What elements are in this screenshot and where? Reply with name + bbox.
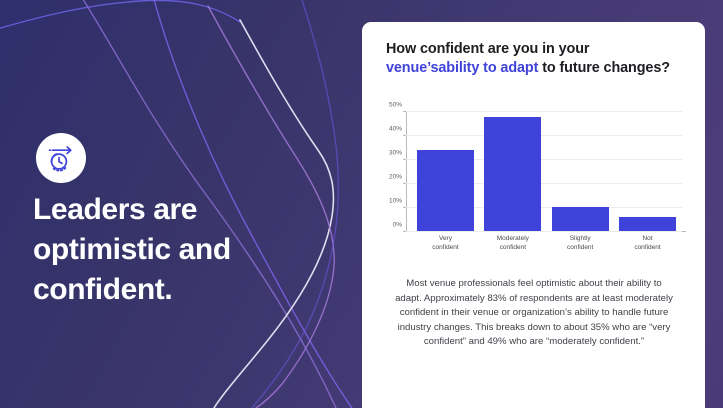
y-axis-tick-label: 20% (389, 174, 402, 181)
left-panel: Leaders are optimistic and confident. (0, 0, 362, 408)
chart-bar[interactable] (417, 150, 474, 231)
card-caption: Most venue professionals feel optimistic… (394, 277, 674, 350)
page-title: Leaders are optimistic and confident. (33, 190, 333, 310)
x-axis-category-label: Slightlyconfident (552, 235, 609, 252)
card-title-part-1: How confident are you in your (386, 41, 589, 57)
x-axis-category-label: Veryconfident (417, 235, 474, 252)
slide-canvas: Leaders are optimistic and confident. Ho… (0, 0, 723, 408)
chart-bar[interactable] (619, 217, 676, 231)
x-axis-label-line: confident (417, 244, 474, 253)
card-title-accent-2: ability to adapt (438, 60, 538, 76)
x-axis-labels: VeryconfidentModeratelyconfidentSlightly… (407, 235, 682, 252)
chart-bar[interactable] (484, 117, 541, 231)
chart-bar[interactable] (552, 207, 609, 231)
chart-bars (407, 112, 682, 231)
x-axis-label-line: Moderately (484, 235, 541, 244)
headline-line-3: confident. (33, 270, 333, 310)
card-title-accent-1: venue’s (386, 60, 438, 76)
bar-slot (552, 112, 609, 231)
bar-slot (417, 112, 474, 231)
stat-card: How confident are you in your venue’sabi… (362, 22, 705, 408)
x-axis-label-line: confident (484, 244, 541, 253)
y-axis-tick-label: 40% (389, 126, 402, 133)
x-axis-label-line: confident (619, 244, 676, 253)
y-axis-tickmark (403, 159, 406, 160)
y-axis-tickmark (403, 135, 406, 136)
y-axis-tickmark (403, 111, 406, 112)
x-axis-label-line: confident (552, 244, 609, 253)
y-axis-tickmark (403, 183, 406, 184)
card-title: How confident are you in your venue’sabi… (386, 40, 686, 78)
brand-badge (36, 133, 86, 183)
bar-slot (484, 112, 541, 231)
x-axis-category-label: Moderatelyconfident (484, 235, 541, 252)
clock-arrow-icon (44, 141, 78, 175)
y-axis-tickmark (403, 207, 406, 208)
chart-plot-area: 0%10%20%30%40%50% (406, 112, 682, 232)
gridline (406, 231, 682, 232)
y-axis-tickmark (403, 231, 406, 232)
y-axis-tick-label: 30% (389, 150, 402, 157)
headline-line-2: optimistic and (33, 230, 333, 270)
x-axis-category-label: Notconfident (619, 235, 676, 252)
x-axis-label-line: Not (619, 235, 676, 244)
x-axis-label-line: Slightly (552, 235, 609, 244)
x-axis-label-line: Very (417, 235, 474, 244)
bar-chart: 0%10%20%30%40%50% VeryconfidentModeratel… (380, 90, 690, 260)
headline-line-1: Leaders are (33, 190, 333, 230)
bar-slot (619, 112, 676, 231)
y-axis-tick-label: 10% (389, 198, 402, 205)
y-axis-tick-label: 0% (393, 222, 402, 229)
y-axis-tick-label: 50% (389, 102, 402, 109)
card-title-part-2: to future changes? (538, 60, 670, 76)
